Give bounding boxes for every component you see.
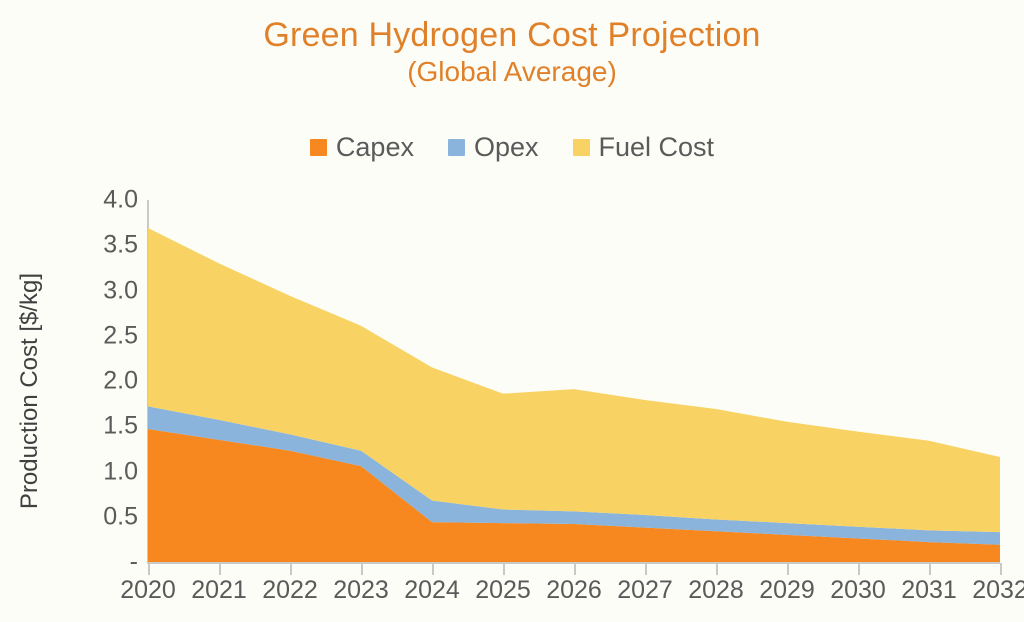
- chart-legend: CapexOpexFuel Cost: [0, 132, 1024, 163]
- chart-container: Green Hydrogen Cost Projection (Global A…: [0, 0, 1024, 622]
- y-axis-tick-label: 0.5: [103, 502, 138, 531]
- stacked-area-series: [148, 200, 1000, 562]
- plot-area: [148, 200, 1000, 562]
- x-axis-tick-label: 2031: [901, 576, 957, 605]
- x-axis-tick: [645, 563, 647, 575]
- x-axis-tick: [432, 563, 434, 575]
- x-axis-tick-label: 2029: [759, 576, 815, 605]
- x-axis-tick-label: 2030: [830, 576, 886, 605]
- x-axis-tick: [787, 563, 789, 575]
- x-axis-tick-label: 2022: [262, 576, 318, 605]
- x-axis-tick-label: 2020: [120, 576, 176, 605]
- legend-label: Capex: [336, 132, 414, 163]
- y-axis-title: Production Cost [$/kg]: [12, 216, 48, 566]
- legend-swatch-icon: [573, 139, 590, 156]
- y-axis-tick-label: -: [130, 548, 138, 577]
- y-axis-title-label: Production Cost [$/kg]: [16, 273, 44, 509]
- x-axis-tick-label: 2021: [191, 576, 247, 605]
- x-axis-tick-label: 2027: [617, 576, 673, 605]
- y-axis-tick-label: 2.5: [103, 321, 138, 350]
- x-axis-tick: [290, 563, 292, 575]
- x-axis-tick-label: 2024: [404, 576, 460, 605]
- x-axis-tick: [574, 563, 576, 575]
- y-axis-tick-label: 1.5: [103, 412, 138, 441]
- y-axis-tick-labels: 4.03.53.02.52.01.51.00.5-: [66, 190, 138, 590]
- x-axis-tick: [361, 563, 363, 575]
- legend-swatch-icon: [448, 139, 465, 156]
- chart-subtitle: (Global Average): [0, 56, 1024, 87]
- legend-item-fuel-cost[interactable]: Fuel Cost: [573, 132, 715, 163]
- x-axis-ticks: [148, 563, 1000, 575]
- y-axis-tick-label: 3.0: [103, 276, 138, 305]
- y-axis-tick-label: 3.5: [103, 231, 138, 260]
- chart-title-block: Green Hydrogen Cost Projection (Global A…: [0, 16, 1024, 87]
- x-axis-tick-label: 2028: [688, 576, 744, 605]
- legend-label: Opex: [474, 132, 539, 163]
- x-axis-tick: [219, 563, 221, 575]
- y-axis-tick-label: 2.0: [103, 367, 138, 396]
- x-axis-tick-label: 2032: [972, 576, 1024, 605]
- x-axis-tick: [1000, 563, 1002, 575]
- x-axis-tick-label: 2025: [475, 576, 531, 605]
- x-axis-tick-label: 2026: [546, 576, 602, 605]
- x-axis-tick: [148, 563, 150, 575]
- x-axis-tick-labels: 2020202120222023202420252026202720282029…: [148, 576, 1000, 616]
- y-axis-tick-label: 1.0: [103, 457, 138, 486]
- y-axis-tick-label: 4.0: [103, 186, 138, 215]
- x-axis-tick-label: 2023: [333, 576, 389, 605]
- x-axis-tick: [716, 563, 718, 575]
- legend-item-capex[interactable]: Capex: [310, 132, 414, 163]
- x-axis-tick: [858, 563, 860, 575]
- legend-swatch-icon: [310, 139, 327, 156]
- x-axis-tick: [503, 563, 505, 575]
- legend-item-opex[interactable]: Opex: [448, 132, 539, 163]
- legend-label: Fuel Cost: [599, 132, 715, 163]
- x-axis-tick: [929, 563, 931, 575]
- chart-title: Green Hydrogen Cost Projection: [0, 16, 1024, 54]
